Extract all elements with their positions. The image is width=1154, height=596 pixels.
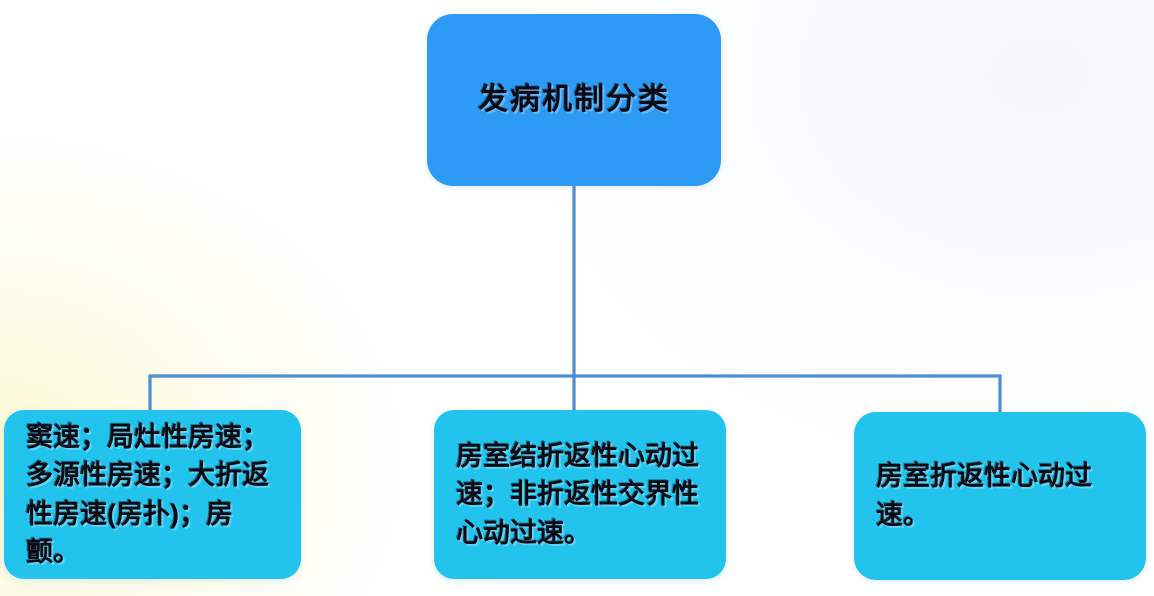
node-leaf-2-label: 房室结折返性心动过速；非折返性交界性心动过速。 <box>456 437 704 552</box>
node-leaf-3[interactable]: 房室折返性心动过速。 <box>854 412 1146 580</box>
node-leaf-1[interactable]: 窦速；局灶性房速；多源性房速；大折返性房速(房扑)；房颤。 <box>4 410 301 579</box>
node-root-label: 发病机制分类 <box>478 81 670 119</box>
node-leaf-3-label: 房室折返性心动过速。 <box>876 457 1124 535</box>
diagram-canvas: 发病机制分类 窦速；局灶性房速；多源性房速；大折返性房速(房扑)；房颤。 房室结… <box>0 0 1154 596</box>
node-root[interactable]: 发病机制分类 <box>427 14 721 186</box>
node-leaf-1-label: 窦速；局灶性房速；多源性房速；大折返性房速(房扑)；房颤。 <box>26 418 279 571</box>
node-leaf-2[interactable]: 房室结折返性心动过速；非折返性交界性心动过速。 <box>434 410 726 579</box>
